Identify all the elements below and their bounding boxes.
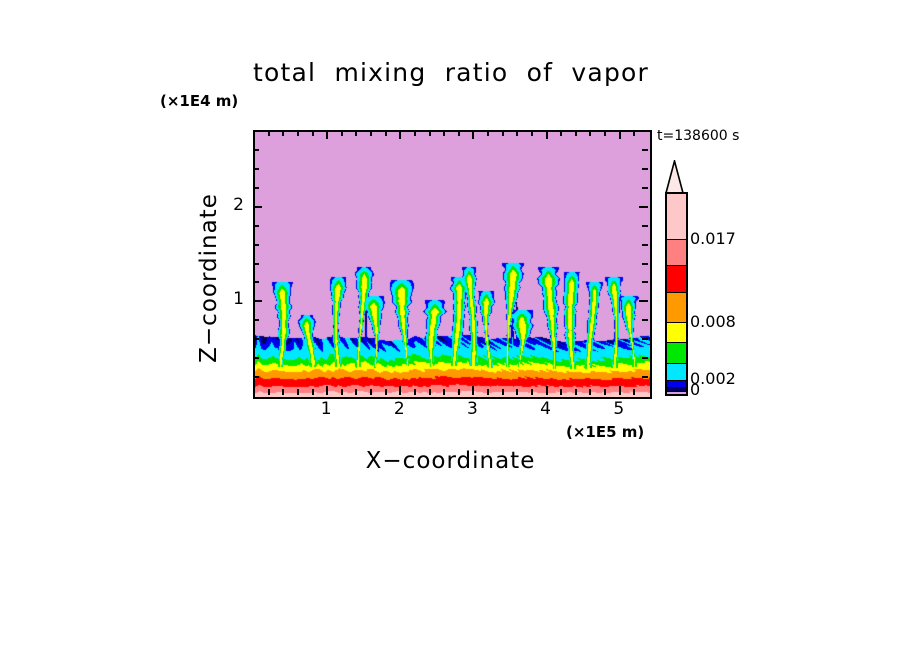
axis-tick [633, 389, 635, 395]
axis-tick [589, 130, 591, 136]
axis-tick [355, 389, 357, 395]
y-axis-title-text: Z−coordinate [196, 193, 222, 363]
axis-tick [560, 389, 562, 395]
axis-tick [297, 130, 299, 136]
time-annotation: t=138600 s [657, 128, 739, 144]
colorbar-band-separator [667, 239, 686, 240]
colorbar-band-separator [667, 391, 686, 392]
axis-tick [458, 130, 460, 136]
axis-tick [253, 300, 262, 302]
x-tick-label: 5 [604, 399, 634, 419]
axis-tick [619, 130, 621, 139]
axis-tick [370, 130, 372, 136]
axis-tick [268, 130, 270, 136]
colorbar-band-separator [667, 292, 686, 293]
axis-tick [443, 130, 445, 136]
axis-tick [619, 386, 621, 395]
axis-tick [414, 130, 416, 136]
axis-tick [642, 376, 648, 378]
axis-tick [642, 319, 648, 321]
colorbar-band-separator [667, 322, 686, 323]
axis-tick [253, 149, 259, 151]
colorbar-band [667, 322, 686, 343]
y-axis-title: Z−coordinate [196, 170, 222, 386]
axis-tick [642, 357, 648, 359]
contour-plot-area [253, 130, 652, 399]
axis-tick [642, 187, 648, 189]
axis-tick [443, 389, 445, 395]
axis-tick [604, 389, 606, 395]
axis-tick [253, 357, 259, 359]
axis-tick [385, 389, 387, 395]
axis-tick [472, 130, 474, 139]
colorbar-band-separator [667, 363, 686, 364]
axis-tick [633, 130, 635, 136]
axis-tick [472, 386, 474, 395]
axis-tick [546, 386, 548, 395]
axis-tick [297, 389, 299, 395]
axis-tick [502, 389, 504, 395]
axis-tick [253, 168, 259, 170]
colorbar-band [667, 239, 686, 266]
colorbar-band [667, 265, 686, 293]
axis-tick [399, 130, 401, 139]
axis-tick [326, 386, 328, 395]
colorbar-tick-label: 0 [690, 380, 700, 399]
axis-tick [253, 225, 259, 227]
axis-tick [268, 389, 270, 395]
y-tick-label: 1 [222, 289, 244, 309]
page-title: total mixing ratio of vapor [0, 58, 903, 87]
axis-tick [642, 244, 648, 246]
axis-tick [639, 300, 648, 302]
axis-tick [399, 386, 401, 395]
axis-tick [253, 263, 259, 265]
axis-tick [355, 130, 357, 136]
axis-tick [341, 389, 343, 395]
axis-tick [326, 130, 328, 139]
axis-tick [502, 130, 504, 136]
axis-tick [575, 130, 577, 136]
axis-tick [642, 263, 648, 265]
axis-tick [516, 130, 518, 136]
x-axis-unit-label: (×1E5 m) [566, 423, 644, 441]
colorbar-band-separator [667, 387, 686, 388]
colorbar [665, 192, 688, 396]
axis-tick [642, 281, 648, 283]
axis-tick [575, 389, 577, 395]
colorbar-tick-label: 0.008 [690, 312, 736, 331]
axis-tick [639, 206, 648, 208]
axis-tick [429, 389, 431, 395]
axis-tick [429, 130, 431, 136]
axis-tick [546, 130, 548, 139]
axis-tick [253, 187, 259, 189]
axis-tick [341, 130, 343, 136]
colorbar-band-separator [667, 380, 686, 381]
axis-tick [487, 130, 489, 136]
x-axis-title: X−coordinate [253, 448, 648, 474]
axis-tick [253, 244, 259, 246]
axis-tick [604, 130, 606, 136]
axis-tick [312, 389, 314, 395]
colorbar-band [667, 363, 686, 381]
x-tick-label: 4 [531, 399, 561, 419]
colorbar-band [667, 342, 686, 364]
axis-tick [642, 168, 648, 170]
axis-tick [253, 376, 259, 378]
axis-tick [253, 338, 259, 340]
y-axis-unit-label: (×1E4 m) [160, 92, 238, 110]
axis-tick [370, 389, 372, 395]
axis-tick [531, 389, 533, 395]
axis-tick [642, 225, 648, 227]
axis-tick [642, 338, 648, 340]
axis-tick [282, 389, 284, 395]
axis-tick [560, 130, 562, 136]
axis-tick [253, 206, 262, 208]
colorbar-band [667, 292, 686, 323]
axis-tick [531, 130, 533, 136]
colorbar-arrow-icon [663, 160, 686, 194]
colorbar-tick-label: 0.017 [690, 229, 736, 248]
colorbar-band [667, 194, 686, 240]
axis-tick [282, 130, 284, 136]
x-tick-label: 1 [311, 399, 341, 419]
axis-tick [487, 389, 489, 395]
axis-tick [516, 389, 518, 395]
axis-tick [414, 389, 416, 395]
axis-tick [385, 130, 387, 136]
x-tick-label: 3 [457, 399, 487, 419]
axis-tick [589, 389, 591, 395]
axis-tick [253, 281, 259, 283]
x-tick-label: 2 [384, 399, 414, 419]
colorbar-band-separator [667, 342, 686, 343]
y-tick-label: 2 [222, 195, 244, 215]
vapor-mixing-ratio-field [255, 132, 650, 397]
axis-tick [458, 389, 460, 395]
axis-tick [253, 319, 259, 321]
axis-tick [642, 149, 648, 151]
axis-tick [312, 130, 314, 136]
colorbar-band-separator [667, 265, 686, 266]
